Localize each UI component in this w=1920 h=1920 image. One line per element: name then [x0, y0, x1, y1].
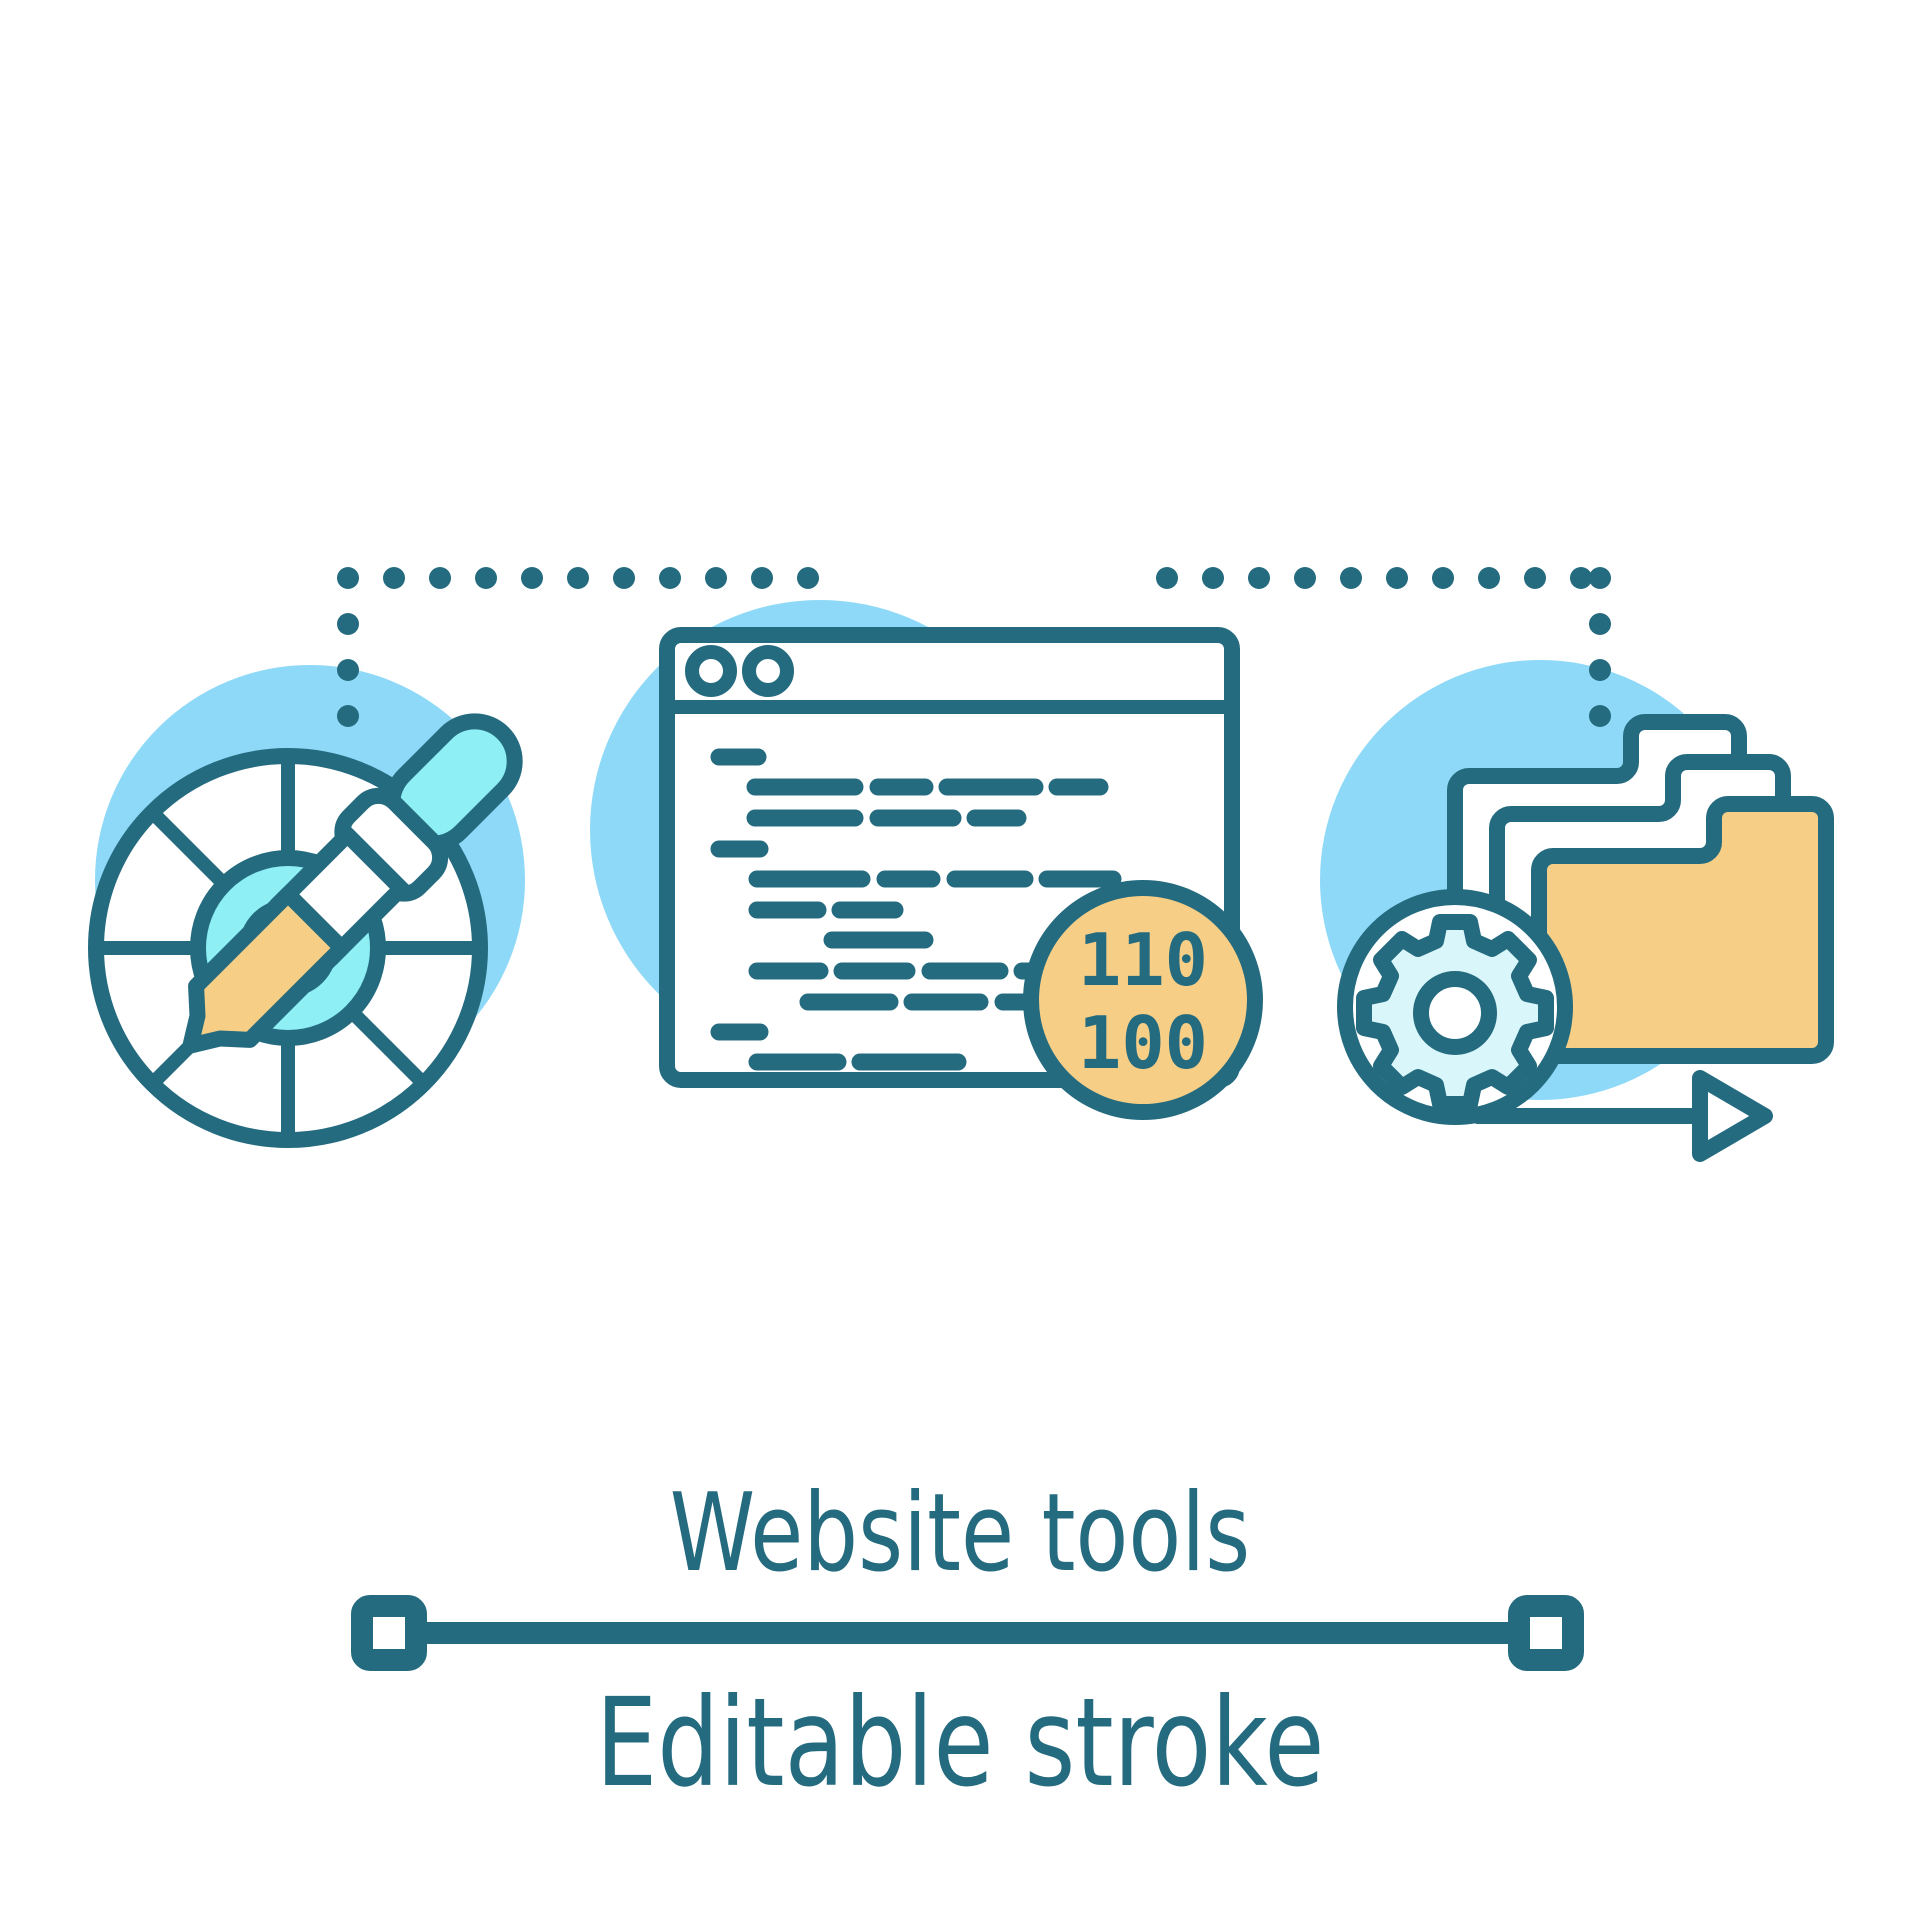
code-window-icon[interactable]: 110 100 — [667, 635, 1255, 1112]
stroke-caption: Editable stroke — [192, 1680, 1728, 1806]
window-dot-2[interactable] — [749, 652, 787, 690]
gear-center-hole — [1421, 979, 1489, 1047]
concept-illustration: 110 100 — [0, 0, 1920, 1920]
stroke-bar-handle-left[interactable] — [362, 1606, 416, 1660]
editable-stroke-bar[interactable] — [362, 1606, 1573, 1660]
flow-arrow-icon — [1700, 1078, 1765, 1154]
page-title: Website tools — [192, 1478, 1728, 1590]
window-dot-1[interactable] — [692, 652, 730, 690]
illustration-canvas: 110 100 Website tools Edi — [0, 0, 1920, 1920]
stroke-bar-handle-right[interactable] — [1519, 1606, 1573, 1660]
binary-badge-line-1: 110 — [1078, 918, 1208, 1002]
binary-badge-line-2: 100 — [1078, 1001, 1208, 1085]
